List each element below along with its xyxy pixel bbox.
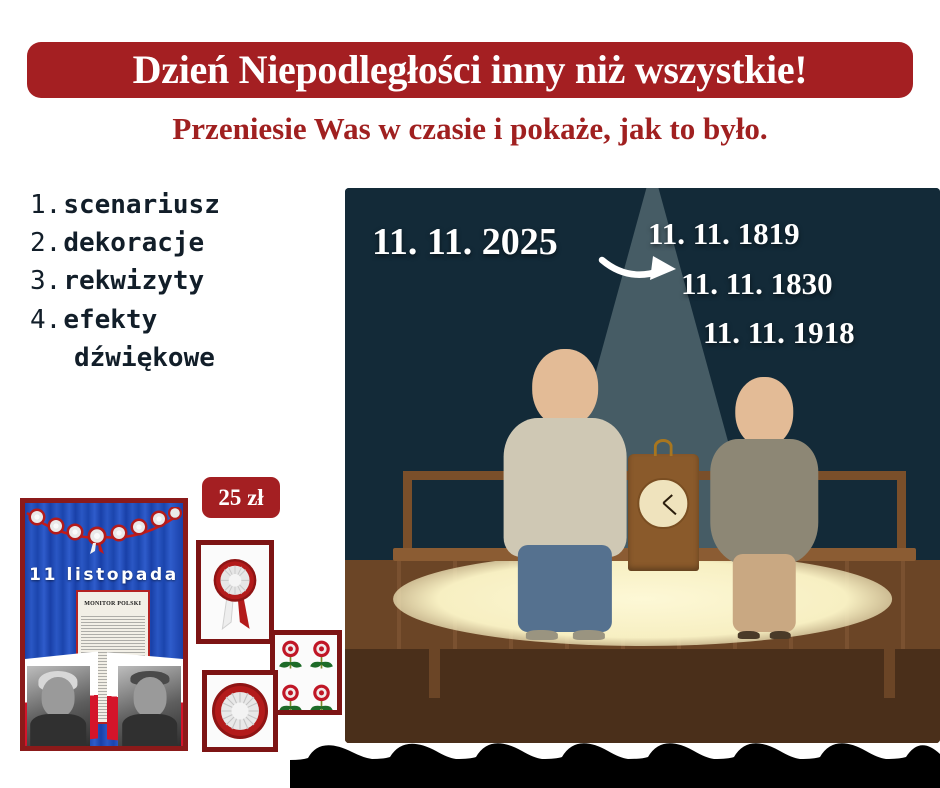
audience-silhouette — [290, 740, 940, 788]
thumbnail-artwork — [201, 545, 269, 639]
girl-dress — [711, 439, 818, 564]
list-item: 2. dekoracje — [30, 224, 340, 262]
date-present: 11. 11. 2025 — [372, 220, 558, 264]
list-item: 4. efekty — [30, 301, 340, 339]
clock-handle — [654, 439, 673, 455]
girl-sweater — [504, 418, 627, 557]
girl-head — [532, 349, 598, 427]
girl-jeans — [518, 545, 612, 632]
portrait-face — [133, 677, 166, 717]
list-item-label: dekoracje — [63, 224, 204, 262]
poster-canvas: Dzień Niepodległości inny niż wszystkie!… — [0, 0, 940, 788]
girl-boot-left — [738, 631, 759, 640]
price-badge-text: 25 zł — [218, 486, 263, 509]
portrait-paderewski — [27, 666, 90, 746]
bench-leg-left — [429, 628, 440, 698]
rose-item — [275, 679, 306, 710]
girl-boot-right — [769, 631, 790, 640]
thumbnail-cockade-with-ribbons[interactable] — [196, 540, 274, 644]
thumbnail-artwork — [275, 635, 337, 710]
girl-shoe-right — [573, 630, 605, 640]
list-item-continuation: dźwiękowe — [30, 339, 340, 377]
portrait-pilsudski — [118, 666, 181, 746]
price-badge: 25 zł — [202, 477, 280, 518]
thumbnail-roses-sheet[interactable] — [270, 630, 342, 715]
list-item-number: 4. — [30, 301, 61, 339]
rose-icon — [275, 679, 306, 710]
girl-shoe-left — [526, 630, 558, 640]
rose-item — [306, 679, 337, 710]
thumbnail-round-cockade[interactable] — [202, 670, 278, 752]
subtitle-text: Przeniesie Was w czasie i pokaże, jak to… — [0, 112, 940, 146]
thumbnail-artwork — [207, 675, 273, 747]
list-item-number: 3. — [30, 262, 61, 300]
list-item-label: rekwizyty — [63, 262, 204, 300]
feature-list: 1. scenariusz 2. dekoracje 3. rekwizyty … — [30, 186, 340, 377]
portrait-body — [30, 714, 86, 746]
rose-item — [275, 635, 306, 679]
list-item: 1. scenariusz — [30, 186, 340, 224]
portrait-face — [42, 677, 75, 717]
monitor-polski-heading: MONITOR POLSKI — [78, 601, 148, 607]
title-banner: Dzień Niepodległości inny niż wszystkie! — [27, 42, 913, 98]
date-past-2: 11. 11. 1830 — [681, 266, 833, 302]
girl-head — [736, 377, 793, 447]
bench-arm-left — [403, 471, 412, 551]
list-item-label: scenariusz — [63, 186, 220, 224]
girl-older — [494, 349, 637, 638]
list-item: 3. rekwizyty — [30, 262, 340, 300]
poster-artwork: 11 listopada MONITOR POLSKI — [25, 503, 183, 746]
cockade-garland-icon — [25, 507, 183, 555]
rose-icon — [306, 679, 337, 710]
date-past-1: 11. 11. 1819 — [648, 216, 800, 252]
banner-title-text: Dzień Niepodległości inny niż wszystkie! — [133, 50, 808, 90]
curved-arrow-icon — [598, 250, 688, 292]
poster-title-text: 11 listopada — [25, 565, 183, 585]
poster-thumbnail[interactable]: 11 listopada MONITOR POLSKI — [20, 498, 188, 751]
bench-arm-right — [897, 471, 906, 551]
stage-photo: 11. 11. 2025 11. 11. 1819 11. 11. 1830 1… — [345, 188, 940, 743]
girl-younger — [702, 377, 827, 638]
list-item-number: 1. — [30, 186, 61, 224]
bench-leg-right — [884, 628, 895, 698]
rose-item — [306, 635, 337, 679]
girl-legs — [733, 554, 795, 632]
list-item-number: 2. — [30, 224, 61, 262]
clock-face — [638, 478, 689, 529]
clock-minute-hand — [663, 503, 677, 516]
list-item-label: efekty — [63, 301, 157, 339]
date-past-3: 11. 11. 1918 — [703, 315, 855, 351]
cockade-ribbon-icon — [201, 545, 269, 639]
portrait-body — [122, 714, 178, 746]
roses-grid — [275, 635, 337, 710]
rose-icon — [275, 635, 306, 679]
mantel-clock — [628, 454, 699, 571]
round-cockade-icon — [207, 675, 273, 747]
rose-icon — [306, 635, 337, 679]
